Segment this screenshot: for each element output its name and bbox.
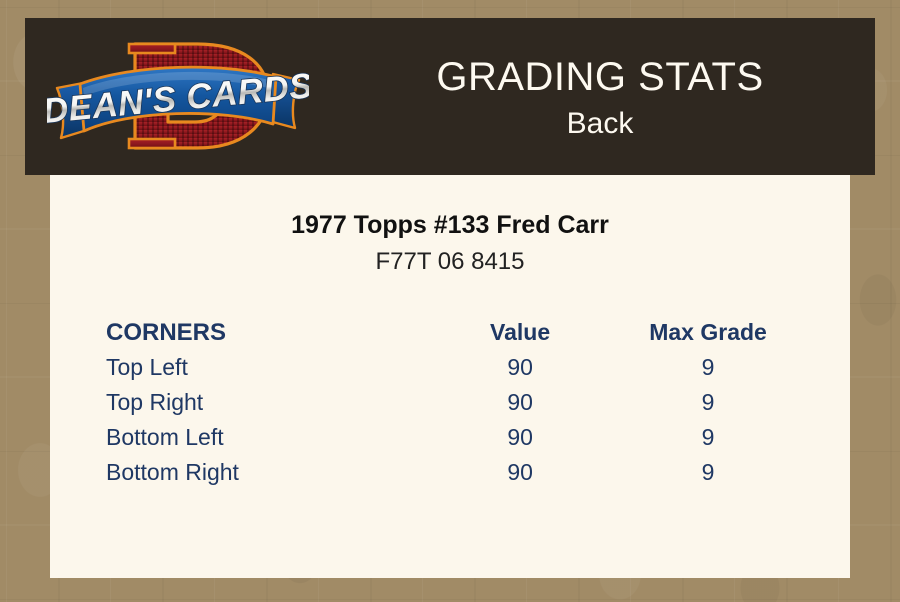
table-row: Top Right 90 9 [106, 385, 802, 420]
deans-cards-logo[interactable]: DEAN'S CARDS [47, 26, 309, 166]
table-row: Top Left 90 9 [106, 350, 802, 385]
row-value: 90 [426, 350, 614, 385]
header-bar: DEAN'S CARDS GRADING STATS Back [25, 18, 875, 175]
row-value: 90 [426, 455, 614, 490]
column-header-max-grade: Max Grade [614, 315, 802, 350]
row-max-grade: 9 [614, 385, 802, 420]
column-header-corners: CORNERS [106, 315, 426, 350]
row-label: Bottom Right [106, 455, 426, 490]
card-title: 1977 Topps #133 Fred Carr [50, 210, 850, 240]
page-title: GRADING STATS [436, 56, 763, 98]
row-label: Top Right [106, 385, 426, 420]
row-max-grade: 9 [614, 350, 802, 385]
column-header-value: Value [426, 315, 614, 350]
card-id: F77T 06 8415 [50, 248, 850, 277]
content-panel: 1977 Topps #133 Fred Carr F77T 06 8415 C… [50, 175, 850, 578]
page-subtitle: Back [567, 106, 634, 142]
table-row: Bottom Left 90 9 [106, 420, 802, 455]
grading-stats-section: CORNERS Value Max Grade Top Left 90 9 To… [50, 315, 850, 490]
table-header-row: CORNERS Value Max Grade [106, 315, 802, 350]
header-title-block: GRADING STATS Back [325, 18, 875, 175]
row-value: 90 [426, 385, 614, 420]
row-value: 90 [426, 420, 614, 455]
row-max-grade: 9 [614, 455, 802, 490]
row-label: Top Left [106, 350, 426, 385]
table-row: Bottom Right 90 9 [106, 455, 802, 490]
corners-stats-table: CORNERS Value Max Grade Top Left 90 9 To… [106, 315, 802, 490]
row-max-grade: 9 [614, 420, 802, 455]
row-label: Bottom Left [106, 420, 426, 455]
